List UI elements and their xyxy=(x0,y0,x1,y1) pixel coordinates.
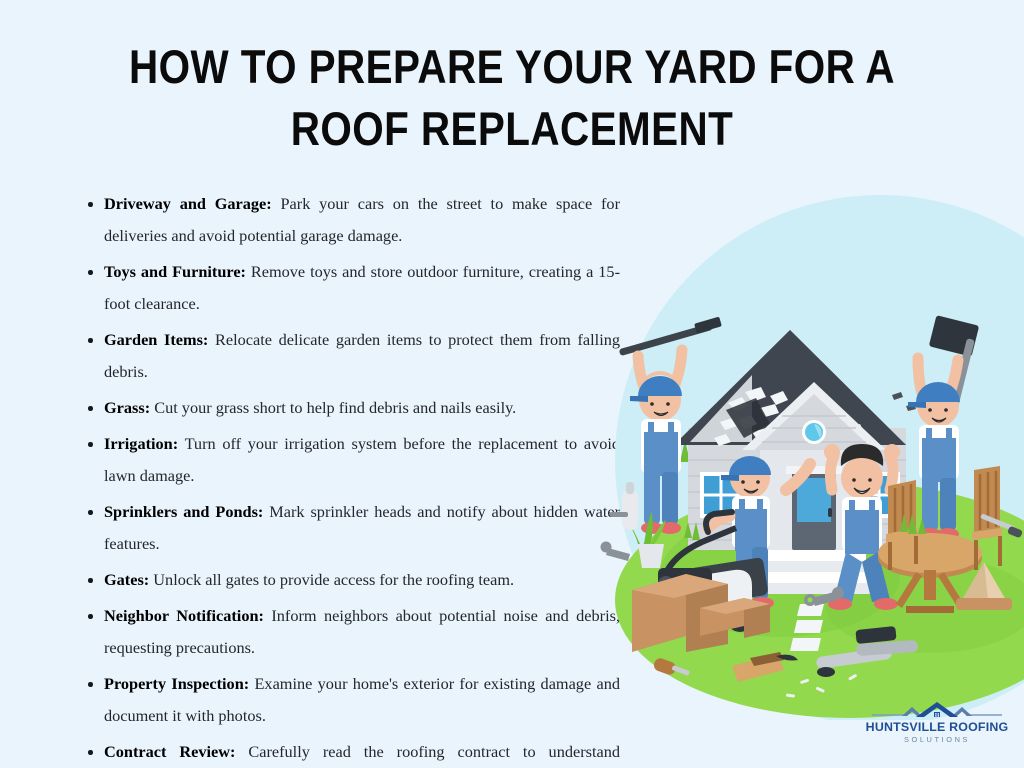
list-item: Grass: Cut your grass short to help find… xyxy=(84,392,620,424)
list-item: Garden Items: Relocate delicate garden i… xyxy=(84,324,620,388)
page-title: HOW TO PREPARE YOUR YARD FOR A ROOF REPL… xyxy=(60,36,964,160)
tip-label: Driveway and Garage: xyxy=(104,194,272,213)
roof-house-icon xyxy=(864,700,1010,720)
list-item: Neighbor Notification: Inform neighbors … xyxy=(84,600,620,664)
logo-company-subtitle: SOLUTIONS xyxy=(864,734,1010,746)
list-item: Sprinklers and Ponds: Mark sprinkler hea… xyxy=(84,496,620,560)
tip-label: Contract Review: xyxy=(104,742,235,761)
title-line-1: HOW TO PREPARE YOUR YARD FOR A xyxy=(123,36,900,98)
tips-list-container: Driveway and Garage: Park your cars on t… xyxy=(84,188,620,768)
list-item: Irrigation: Turn off your irrigation sys… xyxy=(84,428,620,492)
list-item: Contract Review: Carefully read the roof… xyxy=(84,736,620,768)
tip-text: Turn off your irrigation system before t… xyxy=(104,434,620,485)
logo-company-name: HUNTSVILLE ROOFING xyxy=(864,720,1010,734)
tip-label: Sprinklers and Ponds: xyxy=(104,502,263,521)
list-item: Property Inspection: Examine your home's… xyxy=(84,668,620,732)
tip-label: Garden Items: xyxy=(104,330,208,349)
infographic-poster: HOW TO PREPARE YOUR YARD FOR A ROOF REPL… xyxy=(0,0,1024,768)
tip-label: Grass: xyxy=(104,398,150,417)
tip-label: Property Inspection: xyxy=(104,674,249,693)
roofing-scene-illustration xyxy=(600,160,1024,720)
tip-label: Gates: xyxy=(104,570,149,589)
tip-text: Cut your grass short to help find debris… xyxy=(154,398,516,417)
tip-label: Irrigation: xyxy=(104,434,178,453)
tips-list: Driveway and Garage: Park your cars on t… xyxy=(84,188,620,768)
title-line-2: ROOF REPLACEMENT xyxy=(123,98,900,160)
company-logo[interactable]: HUNTSVILLE ROOFING SOLUTIONS xyxy=(864,700,1010,752)
tip-text: Unlock all gates to provide access for t… xyxy=(153,570,514,589)
tip-label: Toys and Furniture: xyxy=(104,262,246,281)
porch-steps xyxy=(748,550,884,594)
list-item: Driveway and Garage: Park your cars on t… xyxy=(84,188,620,252)
list-item: Gates: Unlock all gates to provide acces… xyxy=(84,564,620,596)
tip-label: Neighbor Notification: xyxy=(104,606,264,625)
list-item: Toys and Furniture: Remove toys and stor… xyxy=(84,256,620,320)
